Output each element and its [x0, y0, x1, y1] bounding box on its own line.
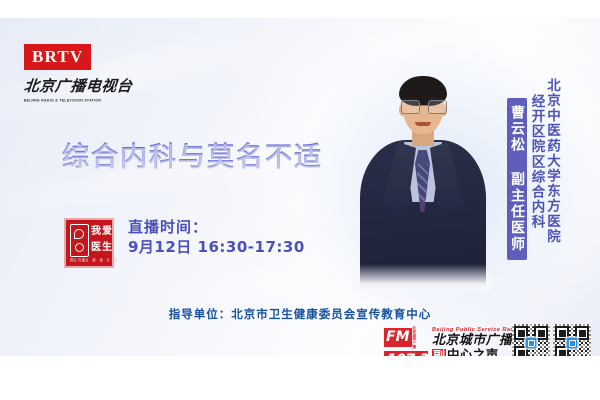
glasses-lens-left	[401, 100, 420, 114]
fm-logo-text: Beijing Public Service Radio 北京城市广播 副 中心…	[432, 326, 520, 356]
badge-char: 医	[91, 240, 101, 255]
brtv-logo: BRTV 北京广播电视台 BEIJING RADIO & TELEVISION …	[24, 44, 144, 102]
live-broadcast-poster: BRTV 北京广播电视台 BEIJING RADIO & TELEVISION …	[0, 18, 600, 356]
live-time-label: 直播时间：	[128, 217, 305, 237]
qr-code[interactable]: 扫码关注 微信公众号	[512, 324, 550, 356]
badge-subtitle: 国际 传播处 · 健 · 康 · 栏 · 目	[70, 257, 108, 263]
speaker-affiliation: 北京中医药大学东方医院	[545, 78, 559, 244]
qr-center-logo-icon	[525, 337, 538, 350]
qr-center-logo-icon	[566, 337, 579, 350]
fm-chinese-name: 北京城市广播	[432, 334, 520, 348]
fm-subname-rest: 中心之声	[447, 349, 499, 356]
glasses-lens-right	[428, 100, 447, 114]
fm-frequency: 107.3	[384, 351, 428, 356]
fm-frequency-mark: FM 北京城市广播 107.3	[384, 326, 428, 356]
brtv-abbr-badge: BRTV	[24, 44, 91, 70]
live-time-value: 9月12日 16:30-17:30	[128, 237, 305, 258]
fm-label: FM	[384, 328, 412, 347]
fm-chinese-subname: 副 中心之声	[432, 349, 520, 356]
brtv-english-name: BEIJING RADIO & TELEVISION STATION	[24, 98, 144, 103]
live-time-block: 直播时间： 9月12日 16:30-17:30	[128, 217, 305, 258]
fm-subname-prefix: 副	[432, 349, 446, 356]
speaker-credits: 曹云松 副主任医师 经开区院区综合内科 北京中医药大学东方医院	[507, 78, 558, 260]
badge-char: 生	[102, 240, 112, 255]
glasses-bridge	[418, 105, 428, 106]
badge-char: 我	[91, 224, 101, 239]
badge-char: 爱	[102, 224, 112, 239]
glasses-icon	[400, 100, 446, 113]
speaker-department: 经开区院区综合内科	[529, 94, 543, 230]
fm-radio-logo: FM 北京城市广播 107.3 Beijing Public Service R…	[384, 326, 520, 356]
qr-code-group: 扫码关注 微信公众号 扫码收听 直播节目	[512, 324, 591, 356]
portrait-mouth	[415, 122, 431, 126]
speaker-name-banner: 曹云松 副主任医师	[507, 98, 527, 260]
poster-title: 综合内科与莫名不适	[62, 135, 323, 174]
stethoscope-icon	[70, 224, 89, 257]
brtv-chinese-name: 北京广播电视台	[23, 75, 145, 96]
sponsor-line: 指导单位：北京市卫生健康委员会宣传教育中心	[0, 306, 600, 322]
screenshot-canvas: BRTV 北京广播电视台 BEIJING RADIO & TELEVISION …	[0, 0, 600, 400]
portrait-bottom-fade	[352, 264, 492, 290]
fm-side-text: 北京城市广播	[413, 326, 417, 349]
speaker-portrait	[352, 68, 492, 290]
program-logo-badge: 我 爱 医 生 国际 传播处 · 健 · 康 · 栏 · 目	[64, 218, 114, 268]
qr-code[interactable]: 扫码收听 直播节目	[553, 324, 591, 356]
